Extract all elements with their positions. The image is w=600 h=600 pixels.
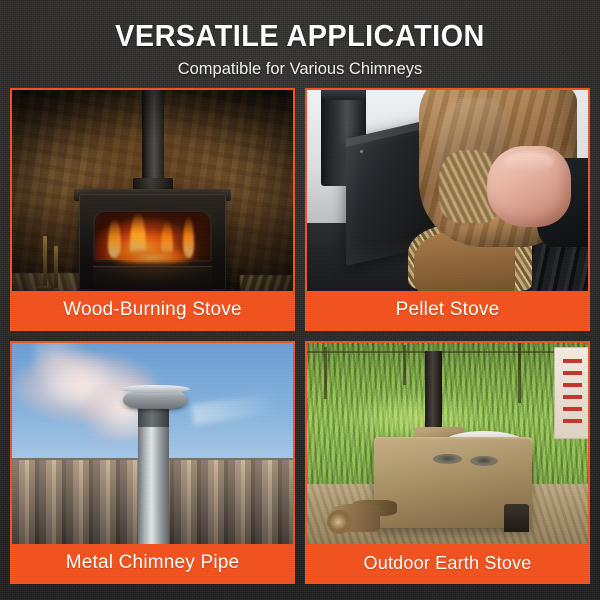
promo-banner: VERSATILE APPLICATION Compatible for Var… bbox=[0, 0, 600, 600]
application-card-pellet-stove[interactable]: Pellet Stove bbox=[305, 88, 590, 331]
application-card-metal-chimney-pipe[interactable]: Metal Chimney Pipe bbox=[10, 341, 295, 584]
application-card-outdoor-earth-stove[interactable]: Outdoor Earth Stove bbox=[305, 341, 590, 584]
card-caption-wood-burning-stove: Wood-Burning Stove bbox=[12, 291, 293, 329]
card-caption-pellet-stove: Pellet Stove bbox=[307, 291, 588, 329]
application-card-wood-burning-stove[interactable]: Wood-Burning Stove bbox=[10, 88, 295, 331]
card-caption-metal-chimney-pipe: Metal Chimney Pipe bbox=[12, 544, 293, 582]
metal-chimney-pipe-photo bbox=[12, 343, 293, 544]
page-subtitle: Compatible for Various Chimneys bbox=[0, 57, 600, 81]
wood-burning-stove-photo bbox=[12, 90, 293, 291]
card-caption-outdoor-earth-stove: Outdoor Earth Stove bbox=[307, 544, 588, 582]
header: VERSATILE APPLICATION Compatible for Var… bbox=[0, 18, 600, 81]
outdoor-earth-stove-photo bbox=[307, 343, 588, 544]
page-title: VERSATILE APPLICATION bbox=[21, 18, 579, 54]
application-grid: Wood-Burning Stove bbox=[10, 88, 590, 584]
pellet-stove-photo bbox=[307, 90, 588, 291]
